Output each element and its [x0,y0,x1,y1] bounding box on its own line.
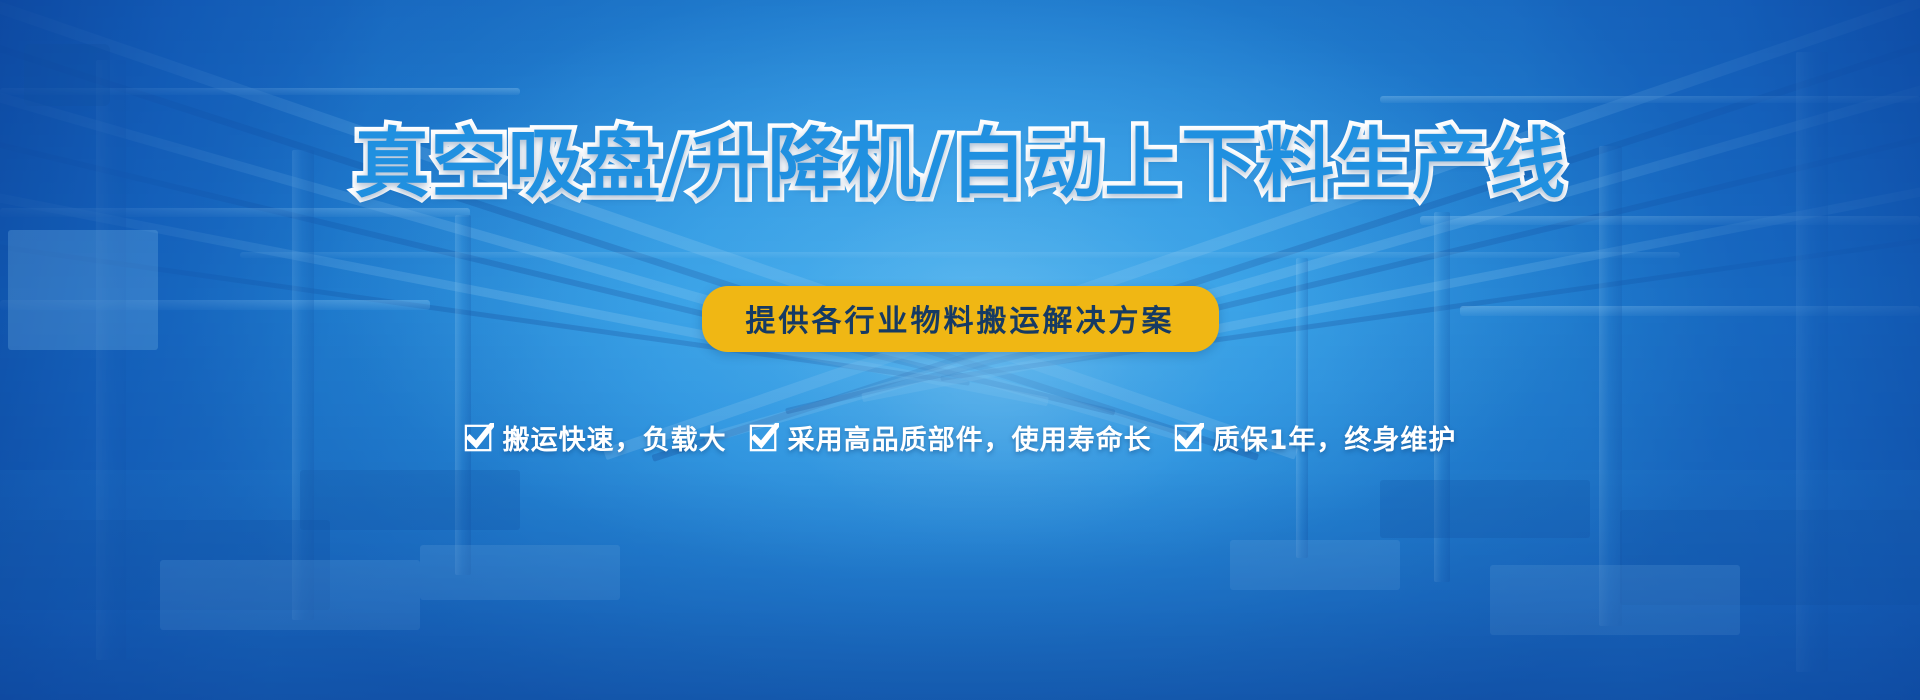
feature-item-2: 采用高品质部件，使用寿命长 [749,418,1152,457]
feature-label: 搬运快速，负载大 [503,418,727,457]
subtitle-pill-container: 提供各行业物料搬运解决方案 [0,286,1920,352]
checkbox-check-icon [749,423,779,453]
feature-item-1: 搬运快速，负载大 [464,418,727,457]
feature-label: 采用高品质部件，使用寿命长 [788,418,1152,457]
feature-list: 搬运快速，负载大 采用高品质部件，使用寿命长 质保1年，终身维护 [0,418,1920,457]
checkbox-check-icon [464,423,494,453]
feature-item-3: 质保1年，终身维护 [1174,418,1457,457]
banner-content: 真空吸盘/升降机/自动上下料生产线 提供各行业物料搬运解决方案 搬运快速，负载大… [0,0,1920,700]
feature-label: 质保1年，终身维护 [1213,418,1457,457]
promo-banner: 真空吸盘/升降机/自动上下料生产线 提供各行业物料搬运解决方案 搬运快速，负载大… [0,0,1920,700]
page-title: 真空吸盘/升降机/自动上下料生产线 [0,126,1920,202]
subtitle-pill: 提供各行业物料搬运解决方案 [702,286,1219,352]
checkbox-check-icon [1174,423,1204,453]
